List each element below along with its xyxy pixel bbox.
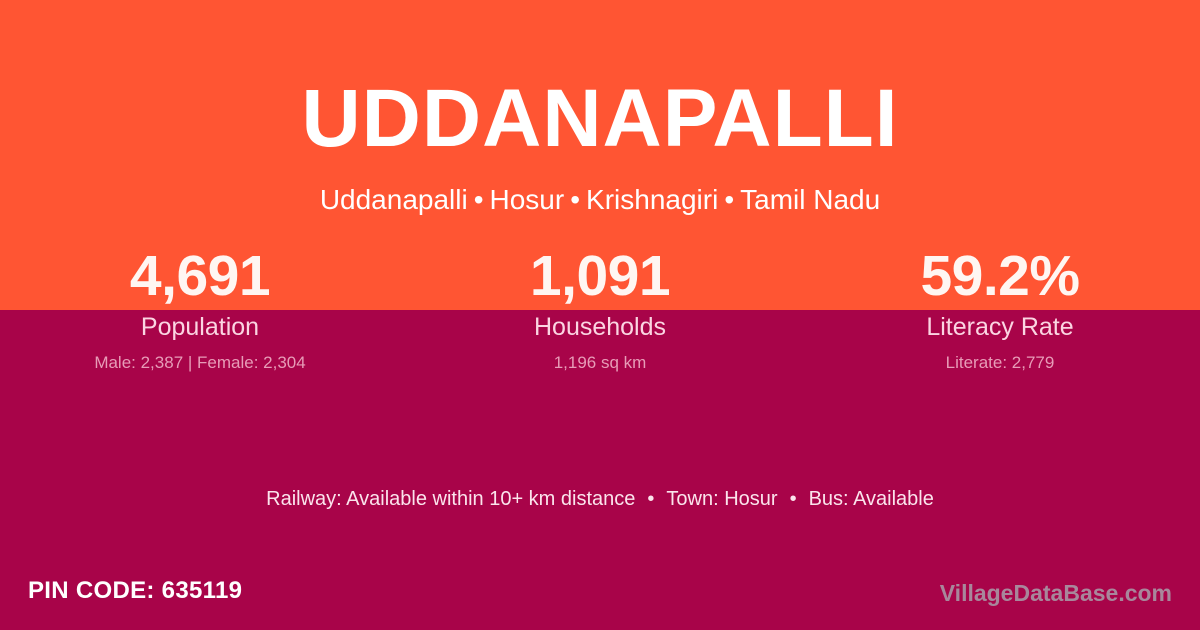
stat-value: 59.2% [800, 246, 1200, 306]
stat-detail: 1,196 sq km [400, 352, 800, 374]
breadcrumb-item-2[interactable]: Hosur [490, 184, 565, 215]
amenity-item-2: Town: Hosur [666, 488, 777, 510]
amenity-item-3: Bus: Available [809, 488, 934, 510]
breadcrumb: Uddanapalli•Hosur•Krishnagiri•Tamil Nadu [0, 182, 1200, 217]
stat-label: Literacy Rate [800, 312, 1200, 342]
stat-label: Households [400, 312, 800, 342]
stat-card-1: 4,691PopulationMale: 2,387 | Female: 2,3… [0, 246, 400, 374]
site-brand: VillageDataBase.com [940, 578, 1172, 608]
stat-label: Population [0, 312, 400, 342]
breadcrumb-item-4[interactable]: Tamil Nadu [740, 184, 880, 215]
breadcrumb-separator: • [564, 184, 586, 215]
pin-code: PIN CODE: 635119 [28, 576, 242, 606]
amenity-separator: • [635, 488, 666, 510]
stat-detail: Literate: 2,779 [800, 352, 1200, 374]
breadcrumb-separator: • [468, 184, 490, 215]
amenity-item-1: Railway: Available within 10+ km distanc… [266, 488, 635, 510]
amenity-separator: • [778, 488, 809, 510]
stat-detail: Male: 2,387 | Female: 2,304 [0, 352, 400, 374]
stat-value: 1,091 [400, 246, 800, 306]
amenities-line: Railway: Available within 10+ km distanc… [0, 486, 1200, 512]
stat-card-3: 59.2%Literacy RateLiterate: 2,779 [800, 246, 1200, 374]
stats-row: 4,691PopulationMale: 2,387 | Female: 2,3… [0, 246, 1200, 374]
breadcrumb-separator: • [718, 184, 740, 215]
breadcrumb-item-1[interactable]: Uddanapalli [320, 184, 468, 215]
stat-value: 4,691 [0, 246, 400, 306]
stat-card-2: 1,091Households1,196 sq km [400, 246, 800, 374]
breadcrumb-item-3[interactable]: Krishnagiri [586, 184, 718, 215]
page-title: UDDANAPALLI [0, 78, 1200, 160]
